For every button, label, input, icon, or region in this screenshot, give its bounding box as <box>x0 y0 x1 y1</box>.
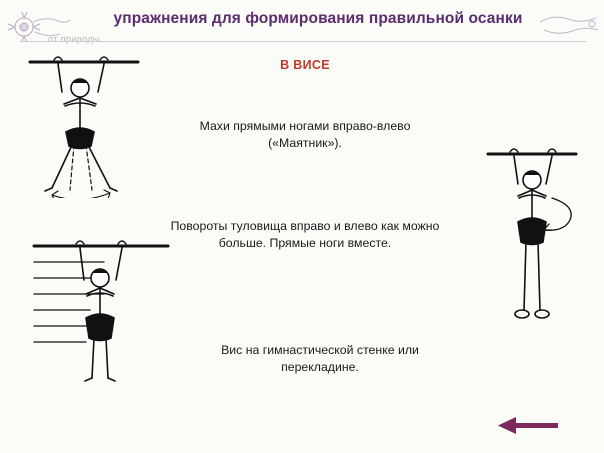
section-subtitle: В ВИСЕ <box>190 58 420 72</box>
slide-canvas: от природы упражнения для формирования п… <box>0 0 604 453</box>
header-watermark-text: от природы <box>48 34 100 44</box>
back-arrow-icon[interactable] <box>498 416 560 436</box>
hanging-figure-wall-bars-icon <box>20 232 190 392</box>
hanging-figure-torso-twist-icon <box>480 140 590 340</box>
exercise-1-line-1: Махи прямыми ногами вправо-влево <box>140 118 470 135</box>
exercise-3-text: Вис на гимнастической стенке или перекла… <box>180 342 460 376</box>
exercise-1-text: Махи прямыми ногами вправо-влево («Маятн… <box>140 118 470 152</box>
exercise-3-line-1: Вис на гимнастической стенке или <box>180 342 460 359</box>
hanging-figure-legs-swing-icon <box>18 48 158 198</box>
page-title: упражнения для формирования правильной о… <box>58 10 578 28</box>
exercise-1-line-2: («Маятник»). <box>140 135 470 152</box>
exercise-3-line-2: перекладине. <box>180 359 460 376</box>
title-divider <box>20 41 586 42</box>
